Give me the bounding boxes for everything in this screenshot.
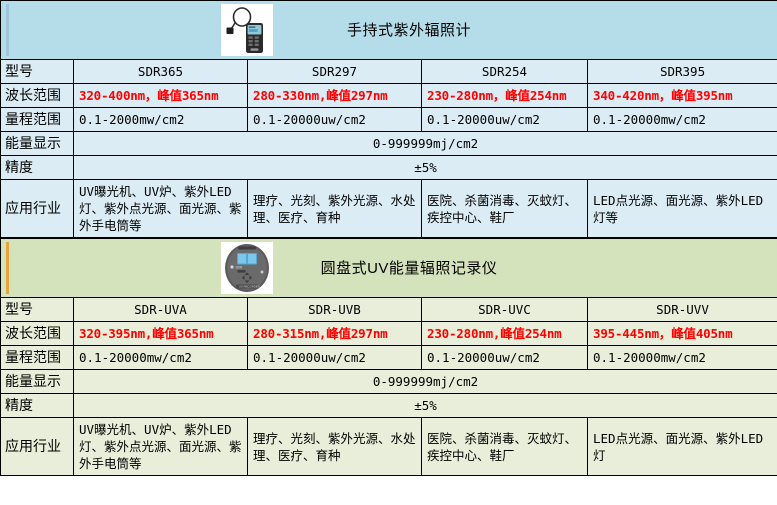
cell-accuracy-value: ±5% (74, 394, 777, 418)
cell-range-2: 0.1-20000uw/cm2 (248, 346, 422, 370)
banner-title: 圆盘式UV能量辐照记录仪 (6, 260, 772, 277)
uv-product-spec-sheet: 手持式紫外辐照计 型号 SDR365 SDR297 SDR254 SDR395 … (0, 0, 777, 505)
cell-model-3: SDR-UVC (422, 298, 588, 322)
cell-range-4: 0.1-20000mw/cm2 (588, 346, 777, 370)
cell-wavelength-1: 320-395nm,峰值365nm (74, 322, 248, 346)
banner: SDR UV RECORDER (6, 242, 772, 294)
row-label-accuracy: 精度 (1, 156, 74, 180)
banner-cell: SDR UV RECORDER (1, 239, 777, 298)
cell-model-2: SDR-UVB (248, 298, 422, 322)
cell-wavelength-2: 280-330nm,峰值297nm (248, 84, 422, 108)
row-label-applications: 应用行业 (1, 418, 74, 476)
cell-applications-2: 理疗、光刻、紫外光源、水处理、医疗、育种 (248, 180, 422, 238)
table-row-model: 型号 SDR365 SDR297 SDR254 SDR395 (1, 60, 777, 84)
row-label-wavelength: 波长范围 (1, 84, 74, 108)
cell-applications-3: 医院、杀菌消毒、灭蚊灯、疾控中心、鞋厂 (422, 418, 588, 476)
row-label-range: 量程范围 (1, 108, 74, 132)
svg-text:SDR: SDR (236, 265, 243, 269)
row-label-accuracy: 精度 (1, 394, 74, 418)
cell-wavelength-4: 340-420nm，峰值395nm (588, 84, 777, 108)
table-row-energy: 能量显示 0-999999mj/cm2 (1, 370, 777, 394)
banner-title: 手持式紫外辐照计 (6, 22, 772, 39)
table-row-accuracy: 精度 ±5% (1, 156, 777, 180)
cell-model-3: SDR254 (422, 60, 588, 84)
table-row-model: 型号 SDR-UVA SDR-UVB SDR-UVC SDR-UVV (1, 298, 777, 322)
disc-uv-energy-recorder-table: SDR UV RECORDER (0, 238, 777, 476)
cell-model-2: SDR297 (248, 60, 422, 84)
row-label-applications: 应用行业 (1, 180, 74, 238)
cell-accuracy-value: ±5% (74, 156, 777, 180)
table-row-applications: 应用行业 UV曝光机、UV炉、紫外LED灯、紫外点光源、面光源、紫外手电筒等 理… (1, 180, 777, 238)
cell-model-4: SDR395 (588, 60, 777, 84)
svg-text:UV RECORDER: UV RECORDER (239, 285, 260, 289)
row-label-range: 量程范围 (1, 346, 74, 370)
cell-wavelength-3: 230-280nm,峰值254nm (422, 322, 588, 346)
row-label-model: 型号 (1, 298, 74, 322)
cell-applications-3: 医院、杀菌消毒、灭蚊灯、疾控中心、鞋厂 (422, 180, 588, 238)
cell-range-2: 0.1-20000uw/cm2 (248, 108, 422, 132)
cell-range-3: 0.1-20000uw/cm2 (422, 108, 588, 132)
table-row-wavelength: 波长范围 320-400nm，峰值365nm 280-330nm,峰值297nm… (1, 84, 777, 108)
cell-model-1: SDR365 (74, 60, 248, 84)
table-banner-row: SDR UV RECORDER (1, 239, 777, 298)
table-row-accuracy: 精度 ±5% (1, 394, 777, 418)
disc-uv-recorder-icon: SDR UV RECORDER (221, 242, 273, 294)
cell-range-1: 0.1-2000mw/cm2 (74, 108, 248, 132)
cell-wavelength-2: 280-315nm,峰值297nm (248, 322, 422, 346)
cell-energy-value: 0-999999mj/cm2 (74, 370, 777, 394)
table-row-applications: 应用行业 UV曝光机、UV炉、紫外LED灯、紫外点光源、面光源、紫外手电筒等 理… (1, 418, 777, 476)
row-label-energy: 能量显示 (1, 132, 74, 156)
cell-applications-1: UV曝光机、UV炉、紫外LED灯、紫外点光源、面光源、紫外手电筒等 (74, 180, 248, 238)
cell-applications-4: LED点光源、面光源、紫外LED灯等 (588, 180, 777, 238)
cell-model-1: SDR-UVA (74, 298, 248, 322)
cell-range-3: 0.1-20000uw/cm2 (422, 346, 588, 370)
banner: 手持式紫外辐照计 (6, 4, 772, 56)
row-label-wavelength: 波长范围 (1, 322, 74, 346)
cell-range-4: 0.1-20000mw/cm2 (588, 108, 777, 132)
banner-cell: 手持式紫外辐照计 (1, 1, 777, 60)
row-label-model: 型号 (1, 60, 74, 84)
cell-wavelength-3: 230-280nm，峰值254nm (422, 84, 588, 108)
table-row-energy: 能量显示 0-999999mj/cm2 (1, 132, 777, 156)
cell-applications-2: 理疗、光刻、紫外光源、水处理、医疗、育种 (248, 418, 422, 476)
cell-energy-value: 0-999999mj/cm2 (74, 132, 777, 156)
table-banner-row: 手持式紫外辐照计 (1, 1, 777, 60)
cell-applications-1: UV曝光机、UV炉、紫外LED灯、紫外点光源、面光源、紫外手电筒等 (74, 418, 248, 476)
table-row-range: 量程范围 0.1-2000mw/cm2 0.1-20000uw/cm2 0.1-… (1, 108, 777, 132)
row-label-energy: 能量显示 (1, 370, 74, 394)
handheld-uv-radiometer-table: 手持式紫外辐照计 型号 SDR365 SDR297 SDR254 SDR395 … (0, 0, 777, 238)
cell-range-1: 0.1-20000mw/cm2 (74, 346, 248, 370)
cell-applications-4: LED点光源、面光源、紫外LED灯 (588, 418, 777, 476)
cell-wavelength-1: 320-400nm，峰值365nm (74, 84, 248, 108)
cell-model-4: SDR-UVV (588, 298, 777, 322)
cell-wavelength-4: 395-445nm，峰值405nm (588, 322, 777, 346)
table-row-wavelength: 波长范围 320-395nm,峰值365nm 280-315nm,峰值297nm… (1, 322, 777, 346)
handheld-uv-meter-icon (221, 4, 273, 56)
table-row-range: 量程范围 0.1-20000mw/cm2 0.1-20000uw/cm2 0.1… (1, 346, 777, 370)
